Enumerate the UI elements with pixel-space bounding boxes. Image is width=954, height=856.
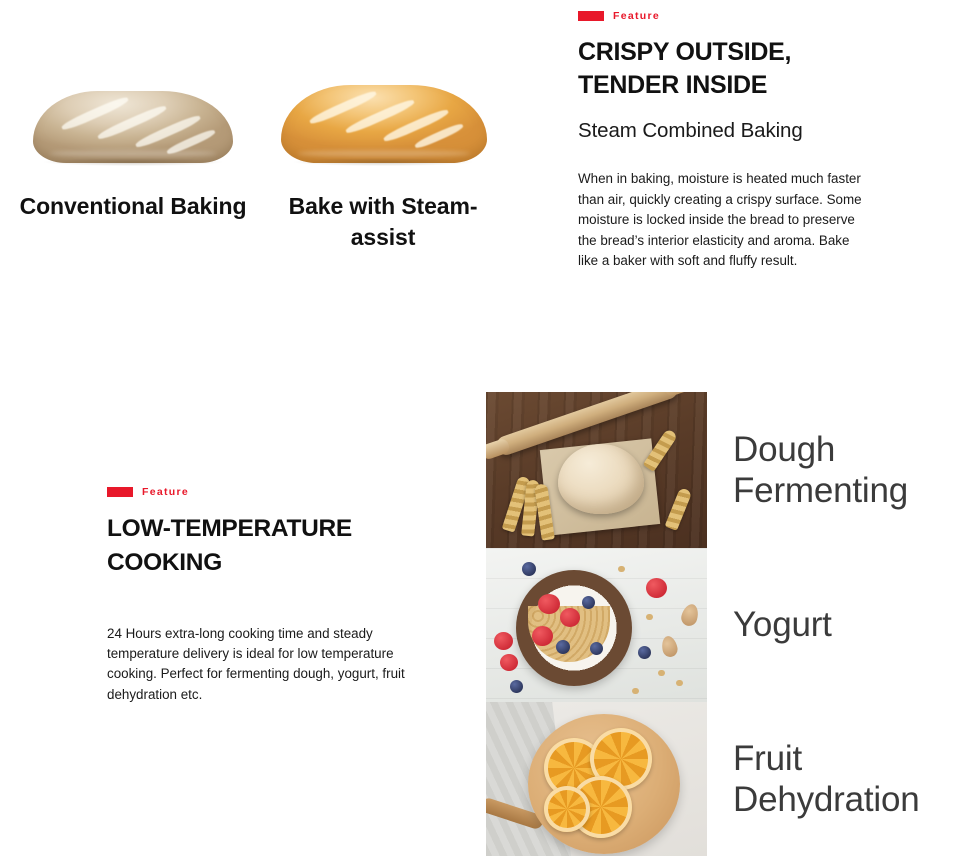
raspberry-icon (538, 594, 560, 614)
loaf-golden-shape (281, 85, 487, 163)
use-cases-section: Dough Fermenting Yogurt (486, 392, 954, 856)
bread-comparison-row: Conventional Baking Bake with Steam-assi… (0, 70, 560, 253)
bread-comparison-section: Conventional Baking Bake with Steam-assi… (0, 0, 560, 330)
granola-crumb (632, 688, 639, 694)
yogurt-photo (486, 548, 707, 702)
use-case-row-yogurt: Yogurt (486, 548, 954, 702)
lowtemp-feature-section: Feature LOW-TEMPERATURE COOKING 24 Hours… (107, 486, 417, 718)
dough-fermenting-photo (486, 392, 707, 548)
raspberry-icon (532, 626, 553, 646)
raspberry-icon (500, 654, 518, 671)
wheat-stalk-icon (665, 487, 693, 531)
feature-tag-label: Feature (613, 10, 660, 22)
use-case-label-dough-fermenting: Dough Fermenting (733, 429, 954, 512)
loaf-shadow (294, 158, 472, 166)
feature-swatch-icon (107, 487, 133, 497)
raspberry-icon (494, 632, 513, 650)
feature-tag-lowtemp: Feature (107, 486, 417, 498)
use-case-label-fruit-dehydration: Fruit Dehydration (733, 738, 954, 821)
dough-ball-shape (558, 444, 644, 514)
blueberry-icon (510, 680, 523, 693)
feature-tag-label: Feature (142, 486, 189, 498)
fruit-dehydration-photo (486, 702, 707, 856)
granola-crumb (646, 614, 653, 620)
almond-icon (660, 635, 679, 659)
granola-crumb (618, 566, 625, 572)
bread-loaf-steam-assist-image (278, 70, 488, 165)
blueberry-icon (556, 640, 570, 654)
crispy-feature-body: When in baking, moisture is heated much … (578, 169, 868, 271)
crispy-feature-subtitle: Steam Combined Baking (578, 118, 878, 144)
blueberry-icon (638, 646, 651, 659)
use-case-label-yogurt: Yogurt (733, 604, 832, 645)
bread-caption-conventional: Conventional Baking (20, 191, 247, 222)
bread-caption-steam-assist: Bake with Steam-assist (258, 191, 508, 253)
loaf-base-highlight (297, 150, 470, 157)
lowtemp-feature-title: LOW-TEMPERATURE COOKING (107, 512, 417, 580)
crispy-feature-title: CRISPY OUTSIDE, TENDER INSIDE (578, 36, 878, 101)
lowtemp-feature-body: 24 Hours extra-long cooking time and ste… (107, 624, 407, 706)
granola-crumb (658, 670, 665, 676)
granola-crumb (676, 680, 683, 686)
dried-orange-slice-icon (544, 786, 590, 832)
blueberry-icon (522, 562, 536, 576)
loaf-pale-shape (33, 91, 233, 163)
use-case-row-fruit-dehydration: Fruit Dehydration (486, 702, 954, 856)
blueberry-icon (582, 596, 595, 609)
raspberry-icon (560, 608, 580, 627)
blueberry-icon (590, 642, 603, 655)
use-case-row-dough-fermenting: Dough Fermenting (486, 392, 954, 548)
raspberry-icon (646, 578, 667, 598)
loaf-base-highlight (49, 150, 217, 157)
bread-loaf-conventional-image (28, 70, 238, 165)
bread-comparison-item-conventional: Conventional Baking (8, 70, 258, 253)
feature-swatch-icon (578, 11, 604, 21)
almond-icon (679, 602, 700, 628)
feature-tag-crispy: Feature (578, 10, 878, 22)
crispy-feature-section: Feature CRISPY OUTSIDE, TENDER INSIDE St… (578, 10, 878, 285)
bread-comparison-item-steam-assist: Bake with Steam-assist (258, 70, 508, 253)
loaf-shadow (44, 158, 222, 166)
